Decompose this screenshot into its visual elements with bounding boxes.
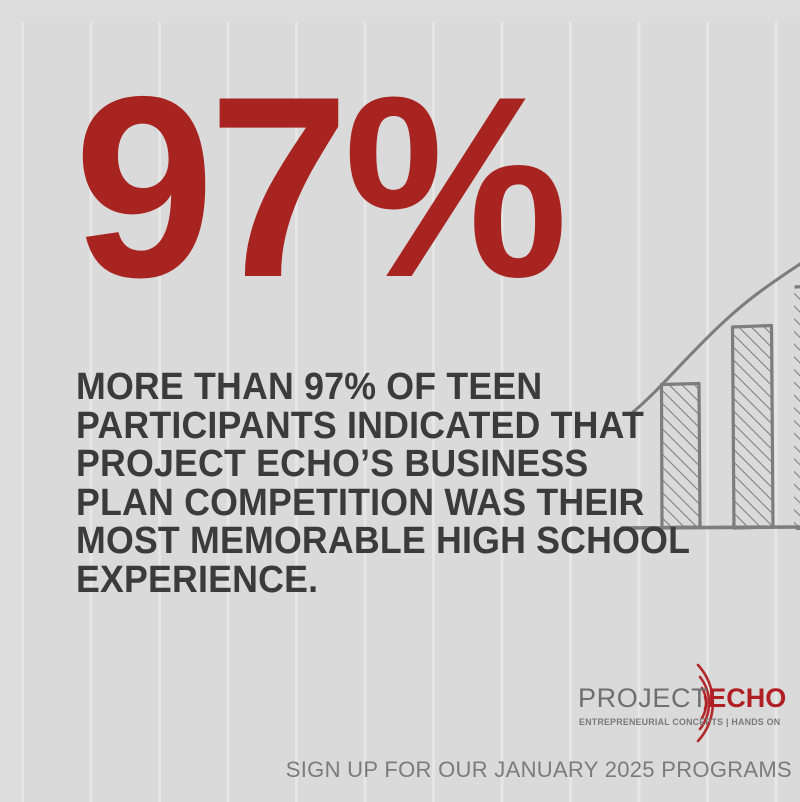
project-echo-logo[interactable]: PROJECTECHO ENTREPRENEURIAL CONCEPTS | H…: [578, 655, 788, 750]
chart-bar-1: [661, 384, 700, 529]
logo-wordmark: PROJECTECHO: [578, 685, 786, 712]
chart-bar-2: [732, 326, 773, 529]
logo-word-project: PROJECT: [578, 683, 708, 713]
headline-line: MORE THAN 97% OF TEEN: [76, 368, 546, 407]
signup-cta-text[interactable]: SIGN UP FOR OUR JANUARY 2025 PROGRAMS: [286, 757, 792, 783]
headline-text: MORE THAN 97% OF TEEN PARTICIPANTS INDIC…: [76, 368, 546, 599]
infographic-poster: 97% MORE THAN 97% OF TEEN PARTICIPANTS I…: [0, 0, 800, 802]
logo-word-echo: ECHO: [708, 683, 786, 713]
headline-line: EXPERIENCE.: [76, 561, 546, 600]
chart-bar-3: [794, 286, 800, 529]
headline-statistic: 97%: [74, 58, 562, 316]
background-top-margin: [0, 0, 800, 22]
background-left-margin: [0, 0, 21, 802]
headline-line: MOST MEMORABLE HIGH SCHOOL: [76, 522, 546, 561]
headline-line: PARTICIPANTS INDICATED THAT: [76, 407, 546, 446]
headline-line: PLAN COMPETITION WAS THEIR: [76, 484, 546, 523]
headline-line: PROJECT ECHO’S BUSINESS: [76, 445, 546, 484]
logo-tagline: ENTREPRENEURIAL CONCEPTS | HANDS ON: [579, 717, 780, 727]
trend-line-icon: [633, 264, 800, 412]
